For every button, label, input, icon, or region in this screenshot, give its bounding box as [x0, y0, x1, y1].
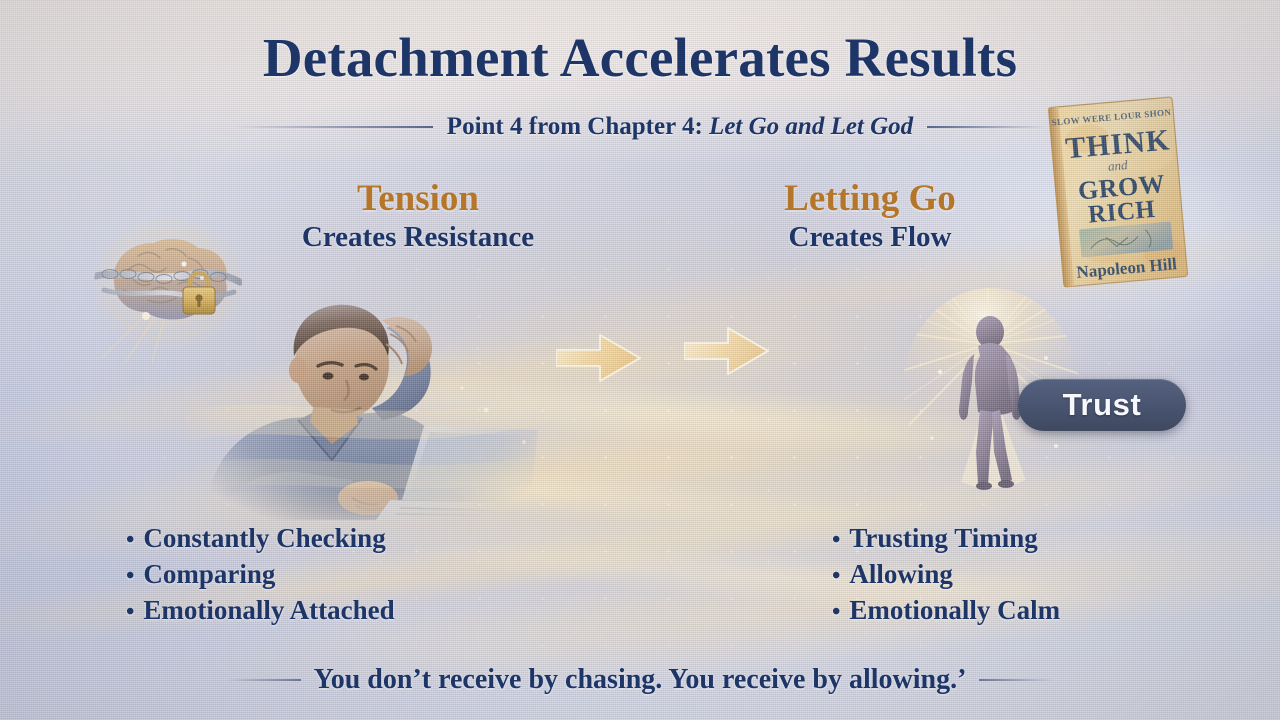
trust-badge-label: Trust [1063, 387, 1142, 423]
list-item: •Trusting Timing [832, 521, 1060, 557]
slide-subtitle-row: Point 4 from Chapter 4: Let Go and Let G… [0, 113, 1280, 141]
column-right-subtitle: Creates Flow [700, 221, 1040, 254]
list-item: •Emotionally Calm [832, 593, 1060, 629]
flow-arrow-icon-1 [556, 327, 642, 389]
subtitle-chapter-title: Let Go and Let God [709, 113, 913, 140]
list-item: •Emotionally Attached [126, 593, 395, 629]
list-item: •Constantly Checking [126, 521, 395, 557]
bullet-dot-icon: • [832, 563, 840, 589]
list-item-label: Emotionally Attached [143, 595, 394, 625]
bullet-dot-icon: • [832, 527, 840, 553]
list-item-label: Comparing [143, 559, 275, 589]
bullet-dot-icon: • [126, 563, 134, 589]
list-item: •Comparing [126, 557, 395, 593]
flow-arrow-icon-2 [684, 320, 770, 382]
list-item-label: Trusting Timing [849, 523, 1037, 553]
list-item-label: Allowing [849, 559, 953, 589]
column-left-title: Tension [248, 180, 588, 219]
slide-subtitle: Point 4 from Chapter 4: Let Go and Let G… [447, 113, 913, 141]
column-heading-left: Tension Creates Resistance [248, 180, 588, 254]
subtitle-rule-left [233, 126, 433, 128]
slide-canvas: SLOW WERE LOUR SHON THINK and GROW RICH … [0, 0, 1280, 720]
column-right-title: Letting Go [700, 180, 1040, 219]
list-item-label: Emotionally Calm [849, 595, 1060, 625]
column-left-subtitle: Creates Resistance [248, 221, 588, 254]
trust-badge: Trust [1018, 379, 1186, 431]
quote-rule-right [979, 679, 1054, 681]
stressed-man-at-laptop-photo [186, 292, 556, 520]
bullet-dot-icon: • [126, 527, 134, 553]
column-heading-right: Letting Go Creates Flow [700, 180, 1040, 254]
bullet-dot-icon: • [126, 599, 134, 625]
bullet-list-right: •Trusting Timing •Allowing •Emotionally … [832, 521, 1060, 629]
subtitle-prefix: Point 4 from Chapter 4: [447, 113, 709, 140]
slide-footer-quote: You don’t receive by chasing. You receiv… [314, 664, 967, 696]
bullet-dot-icon: • [832, 599, 840, 625]
bullet-list-left: •Constantly Checking •Comparing •Emotion… [126, 521, 395, 629]
subtitle-rule-right [927, 126, 1047, 128]
quote-rule-left [226, 679, 301, 681]
slide-title: Detachment Accelerates Results [0, 26, 1280, 89]
slide-footer-quote-row: You don’t receive by chasing. You receiv… [0, 664, 1280, 696]
book-title-and: and [1107, 157, 1128, 174]
list-item: •Allowing [832, 557, 1060, 593]
list-item-label: Constantly Checking [143, 523, 385, 553]
